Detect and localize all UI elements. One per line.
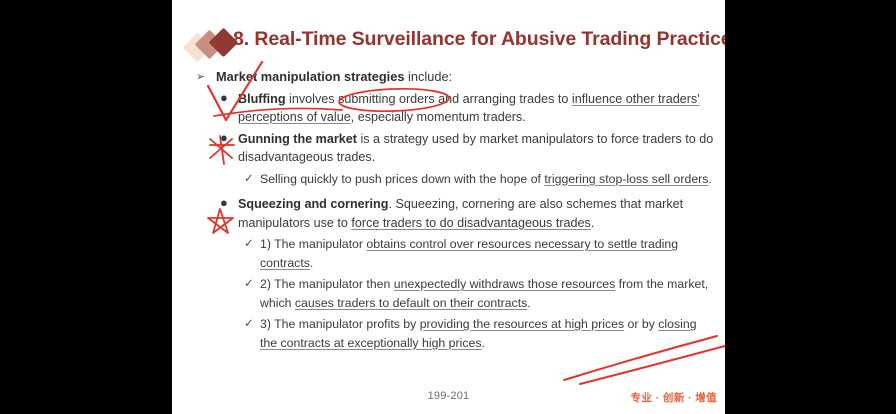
- subbullet-step-2: ✓ 2) The manipulator then unexpectedly w…: [194, 275, 714, 312]
- check-bullet-icon: ✓: [244, 275, 254, 294]
- bullet-text: .: [527, 296, 530, 310]
- slide-title-row: 8. Real-Time Surveillance for Abusive Tr…: [186, 28, 725, 62]
- bullet-text: 3) The manipulator profits by: [260, 317, 420, 331]
- check-bullet-icon: ✓: [244, 235, 254, 254]
- underlined-phrase: triggering stop-loss sell orders: [544, 172, 708, 186]
- bullet-text: include:: [404, 69, 452, 84]
- bullet-text: .: [591, 216, 595, 230]
- underlined-phrase: providing the resources at high prices: [420, 317, 624, 331]
- arrow-bullet-icon: ➢: [196, 68, 205, 87]
- dot-bullet-icon: ●: [220, 129, 228, 147]
- bullet-gunning-the-market: ● Gunning the market is a strategy used …: [194, 130, 714, 167]
- brand-tagline: 专业 · 创新 · 增值: [631, 390, 717, 405]
- bullet-text: .: [481, 336, 484, 350]
- page-title: 8. Real-Time Surveillance for Abusive Tr…: [233, 28, 725, 51]
- subbullet-step-1: ✓ 1) The manipulator obtains control ove…: [194, 235, 714, 272]
- bullet-label-bold: Squeezing and cornering: [238, 197, 388, 211]
- check-bullet-icon: ✓: [244, 315, 254, 334]
- bullet-text: .: [708, 172, 711, 186]
- bullet-market-manipulation: ➢ Market manipulation strategies include…: [194, 68, 714, 87]
- bullet-text: Selling quickly to push prices down with…: [260, 172, 544, 186]
- bullet-text: or by: [624, 317, 658, 331]
- subbullet-selling-quickly: ✓ Selling quickly to push prices down wi…: [194, 170, 714, 189]
- underlined-phrase: causes traders to default on their contr…: [295, 296, 527, 310]
- circled-phrase: submitting orders: [338, 92, 435, 106]
- screen: 8. Real-Time Surveillance for Abusive Tr…: [0, 0, 896, 414]
- bullet-text: and arranging trades to: [435, 92, 572, 106]
- bullet-label-bold: Gunning the market: [238, 132, 357, 146]
- bullet-text: , especially momentum traders.: [351, 110, 526, 124]
- dot-bullet-icon: ●: [220, 89, 228, 107]
- bullet-bluffing: ● Bluffing involves submitting orders an…: [194, 90, 714, 127]
- underlined-phrase: unexpectedly withdraws those resources: [394, 277, 615, 291]
- bullet-text: 2) The manipulator then: [260, 277, 394, 291]
- slide-body: ➢ Market manipulation strategies include…: [194, 68, 714, 352]
- bullet-text: .: [310, 256, 313, 270]
- bullet-label-bold: Market manipulation strategies: [216, 69, 404, 84]
- bullet-text: involves: [286, 92, 339, 106]
- underlined-phrase: force traders to do disadvantageous trad…: [351, 216, 590, 230]
- check-bullet-icon: ✓: [244, 170, 254, 189]
- slide-canvas: 8. Real-Time Surveillance for Abusive Tr…: [172, 0, 725, 414]
- subbullet-step-3: ✓ 3) The manipulator profits by providin…: [194, 315, 714, 352]
- dot-bullet-icon: ●: [220, 194, 228, 212]
- bullet-label-bold: Bluffing: [238, 92, 286, 106]
- bullet-text: 1) The manipulator: [260, 237, 366, 251]
- bullet-squeezing-and-cornering: ● Squeezing and cornering. Squeezing, co…: [194, 195, 714, 232]
